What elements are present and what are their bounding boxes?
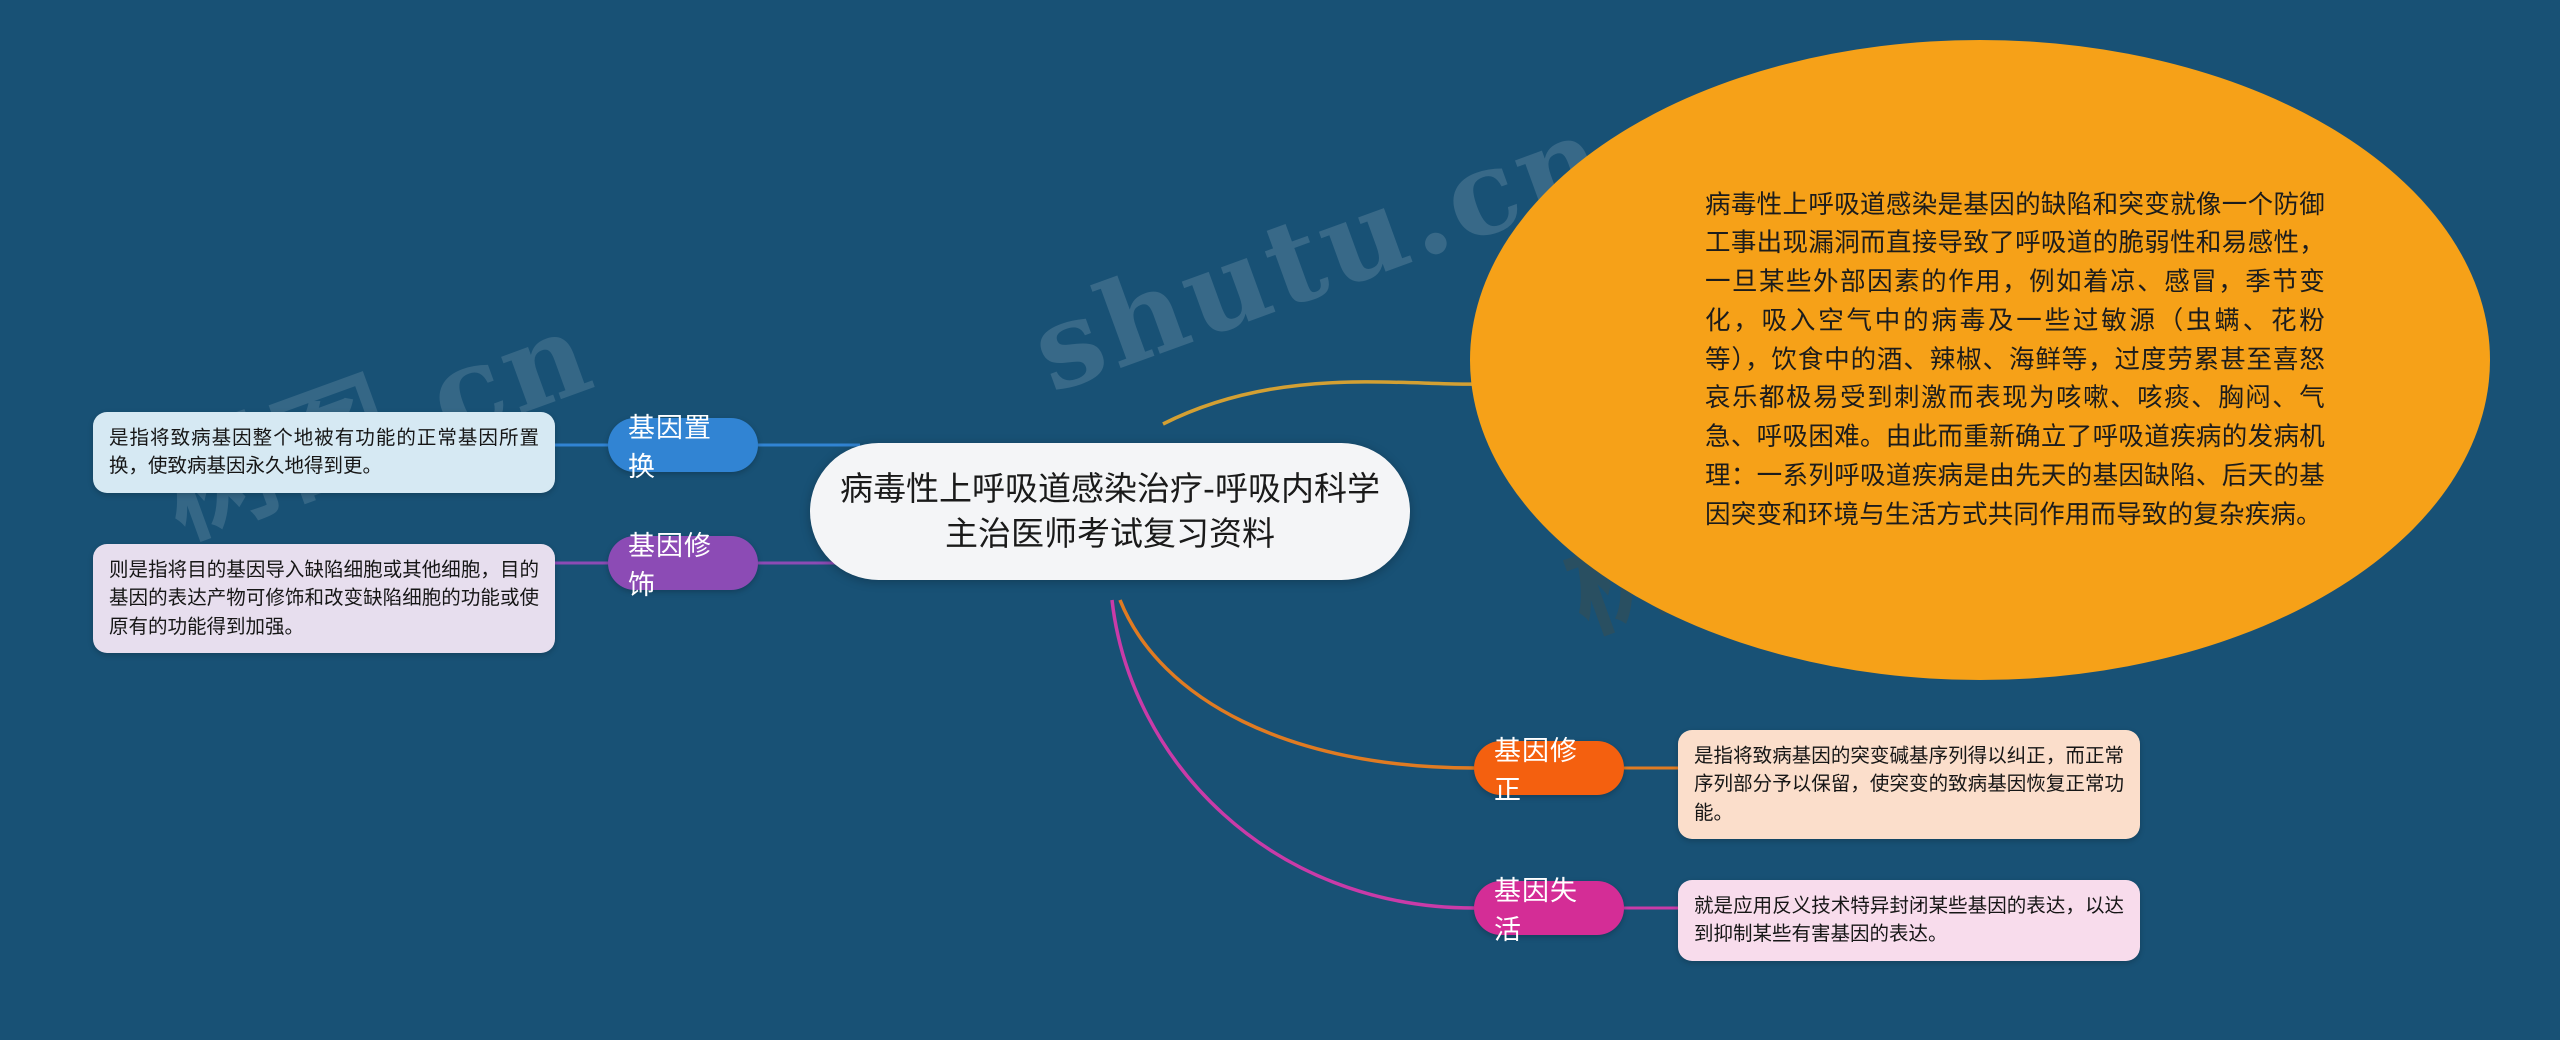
center-topic-label: 病毒性上呼吸道感染治疗-呼吸内科学主治医师考试复习资料 xyxy=(836,467,1384,557)
description-text: 是指将致病基因的突变碱基序列得以纠正，而正常序列部分予以保留，使突变的致病基因恢… xyxy=(1694,744,2124,824)
description-card-xiuzheng[interactable]: 是指将致病基因的突变碱基序列得以纠正，而正常序列部分予以保留，使突变的致病基因恢… xyxy=(1678,730,2140,839)
description-card-xiushi[interactable]: 则是指将目的基因导入缺陷细胞或其他细胞，目的基因的表达产物可修饰和改变缺陷细胞的… xyxy=(93,544,555,653)
branch-pill-label: 基因修正 xyxy=(1494,729,1604,807)
connector-center-xiuzheng xyxy=(1120,600,1474,768)
description-card-zhihuan[interactable]: 是指将致病基因整个地被有功能的正常基因所置换，使致病基因永久地得到更。 xyxy=(93,412,555,493)
branch-pill-label: 基因修饰 xyxy=(628,524,738,602)
mindmap-canvas: 树图.cn shutu.cn 树图 病毒性上呼吸道感染是基因的缺陷和突变就像一个… xyxy=(0,0,2560,1040)
orange-summary-node[interactable]: 病毒性上呼吸道感染是基因的缺陷和突变就像一个防御工事出现漏洞而直接导致了呼吸道的… xyxy=(1470,40,2490,680)
branch-pill-label: 基因置换 xyxy=(628,406,738,484)
description-card-shihuo[interactable]: 就是应用反义技术特异封闭某些基因的表达，以达到抑制某些有害基因的表达。 xyxy=(1678,880,2140,961)
description-text: 就是应用反义技术特异封闭某些基因的表达，以达到抑制某些有害基因的表达。 xyxy=(1694,894,2124,945)
branch-pill-label: 基因失活 xyxy=(1494,869,1604,947)
orange-summary-text: 病毒性上呼吸道感染是基因的缺陷和突变就像一个防御工事出现漏洞而直接导致了呼吸道的… xyxy=(1705,186,2325,535)
description-text: 则是指将目的基因导入缺陷细胞或其他细胞，目的基因的表达产物可修饰和改变缺陷细胞的… xyxy=(109,558,539,638)
branch-pill-zhihuan[interactable]: 基因置换 xyxy=(608,418,758,472)
branch-pill-xiuzheng[interactable]: 基因修正 xyxy=(1474,741,1624,795)
center-topic-node[interactable]: 病毒性上呼吸道感染治疗-呼吸内科学主治医师考试复习资料 xyxy=(810,443,1410,580)
connector-center-shihuo xyxy=(1112,600,1474,908)
branch-pill-xiushi[interactable]: 基因修饰 xyxy=(608,536,758,590)
branch-pill-shihuo[interactable]: 基因失活 xyxy=(1474,881,1624,935)
connector-center-orange xyxy=(1163,382,1503,424)
description-text: 是指将致病基因整个地被有功能的正常基因所置换，使致病基因永久地得到更。 xyxy=(109,426,539,477)
